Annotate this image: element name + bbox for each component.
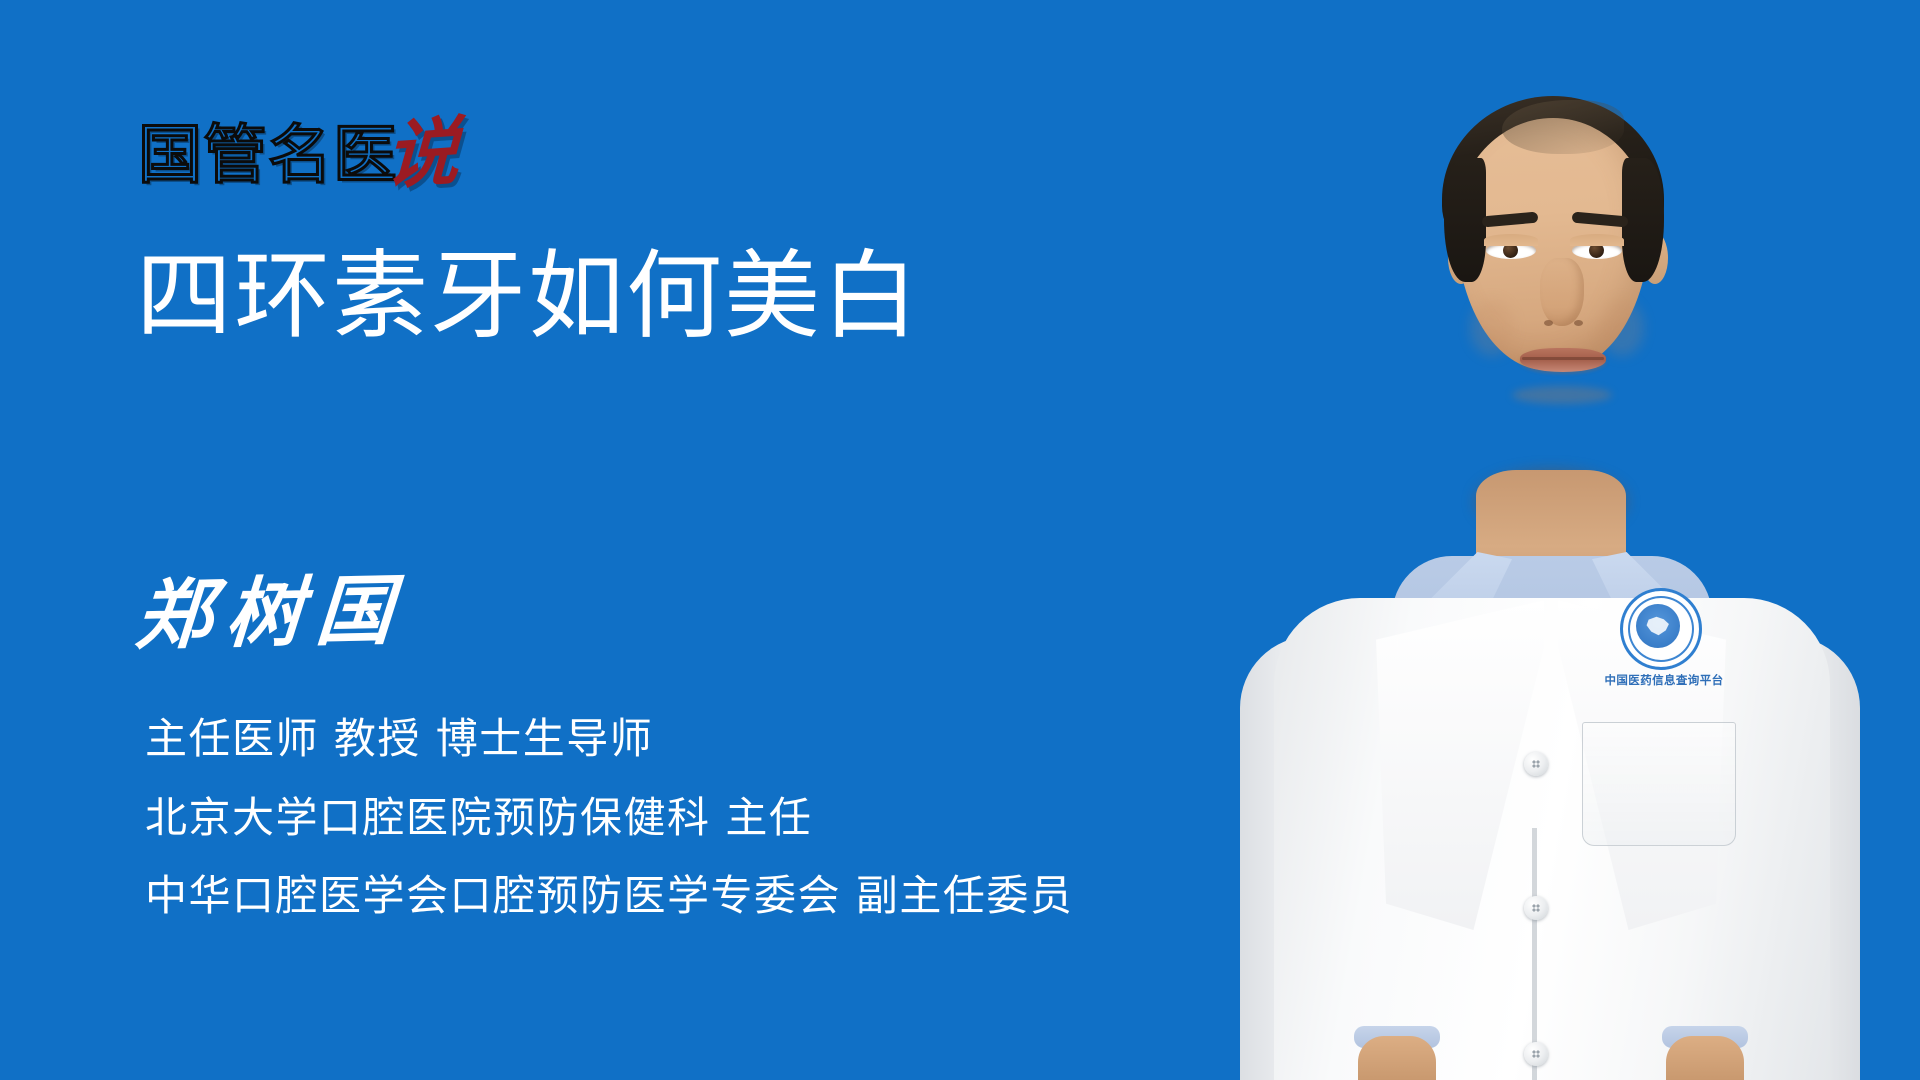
platform-badge-text: 中国医药信息查询平台 <box>1596 672 1732 688</box>
doctor-name: 郑树国 <box>133 572 408 654</box>
mouth <box>1520 348 1606 372</box>
platform-badge-map-icon <box>1636 604 1680 648</box>
nose <box>1540 258 1584 326</box>
chin-shadow <box>1512 386 1612 404</box>
credential-line-3: 中华口腔医学会口腔预防医学专委会 副主任委员 <box>145 871 1073 921</box>
doctor-portrait-photo <box>1180 0 1920 1080</box>
episode-title: 四环素牙如何美白 <box>136 246 920 347</box>
program-logo-accent-text: 说 <box>384 114 460 194</box>
hair-side-right <box>1622 158 1664 282</box>
lab-coat-chest-pocket <box>1582 722 1736 846</box>
eyelid-left <box>1484 234 1538 246</box>
lab-coat-button-1 <box>1524 752 1548 776</box>
cheek-left <box>1470 300 1514 356</box>
hand-right <box>1666 1036 1744 1080</box>
video-cover-slide: 国管名医 说 四环素牙如何美白 郑树国 主任医师 教授 博士生导师 北京大学口腔… <box>0 0 1920 1080</box>
mouth-line <box>1522 357 1604 360</box>
credential-line-2: 北京大学口腔医院预防保健科 主任 <box>145 793 1073 843</box>
nostril-left <box>1544 320 1553 326</box>
platform-badge-emblem-icon <box>1620 588 1702 670</box>
hair-side-left <box>1444 158 1486 282</box>
hand-left <box>1358 1036 1436 1080</box>
cheek-right <box>1600 300 1644 356</box>
eyelid-right <box>1570 234 1624 246</box>
lab-coat-body <box>1274 598 1830 1080</box>
program-logo: 国管名医 说 <box>138 108 458 188</box>
program-logo-main-text: 国管名医 <box>138 124 398 188</box>
credential-line-1: 主任医师 教授 博士生导师 <box>145 714 1073 764</box>
nostril-right <box>1574 320 1583 326</box>
hair-part-highlight <box>1502 100 1624 154</box>
doctor-credentials: 主任医师 教授 博士生导师 北京大学口腔医院预防保健科 主任 中华口腔医学会口腔… <box>145 714 1073 921</box>
lab-coat-button-3 <box>1524 1042 1548 1066</box>
lab-coat-button-2 <box>1524 896 1548 920</box>
